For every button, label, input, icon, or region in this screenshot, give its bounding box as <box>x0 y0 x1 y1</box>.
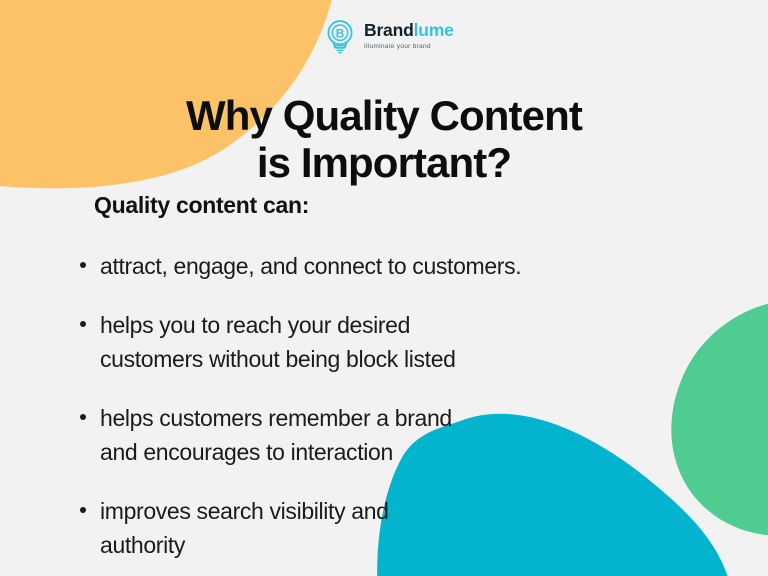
logo-word-row: Brandlume <box>364 22 454 40</box>
logo-word-lume: lume <box>414 20 454 40</box>
brandlume-logo[interactable]: B Brandlume Illuminate your brand <box>321 17 454 55</box>
list-item-text: attract, engage, and connect to customer… <box>100 249 698 284</box>
bullet-dot-icon <box>80 507 86 513</box>
logo-wordmark: Brandlume Illuminate your brand <box>364 22 454 50</box>
page-title-line-1: Why Quality Content <box>186 92 582 139</box>
list-item-text: improves search visibility and authority <box>100 494 698 563</box>
list-item-line: customers without being block listed <box>100 342 698 377</box>
page-title-line-2: is Important? <box>0 139 768 186</box>
logo-tagline: Illuminate your brand <box>364 44 454 51</box>
list-item: helps you to reach your desired customer… <box>78 308 698 377</box>
lightbulb-b-logo-icon: B <box>321 17 359 55</box>
list-item: attract, engage, and connect to customer… <box>78 249 698 284</box>
logo-word-brand: Brand <box>364 20 414 40</box>
logo-letter-b: B <box>336 28 345 41</box>
bullet-dot-icon <box>80 414 86 420</box>
list-item-line: helps you to reach your desired <box>100 308 698 343</box>
list-item-line: helps customers remember a brand <box>100 401 698 436</box>
list-item-text: helps customers remember a brand and enc… <box>100 401 698 470</box>
list-item-line: attract, engage, and connect to customer… <box>100 249 698 284</box>
bullet-dot-icon <box>80 321 86 327</box>
list-item-text: helps you to reach your desired customer… <box>100 308 698 377</box>
list-item: improves search visibility and authority <box>78 494 698 563</box>
list-item-line: authority <box>100 528 698 563</box>
content-block: Quality content can: attract, engage, an… <box>78 192 698 563</box>
list-item-line: and encourages to interaction <box>100 435 698 470</box>
slide-canvas: B Brandlume Illuminate your brand Why Qu… <box>0 0 768 576</box>
list-item-line: improves search visibility and <box>100 494 698 529</box>
lead-in-text: Quality content can: <box>94 192 698 219</box>
list-item: helps customers remember a brand and enc… <box>78 401 698 470</box>
page-title: Why Quality Content is Important? <box>0 92 768 186</box>
benefits-list: attract, engage, and connect to customer… <box>78 249 698 563</box>
bullet-dot-icon <box>80 262 86 268</box>
